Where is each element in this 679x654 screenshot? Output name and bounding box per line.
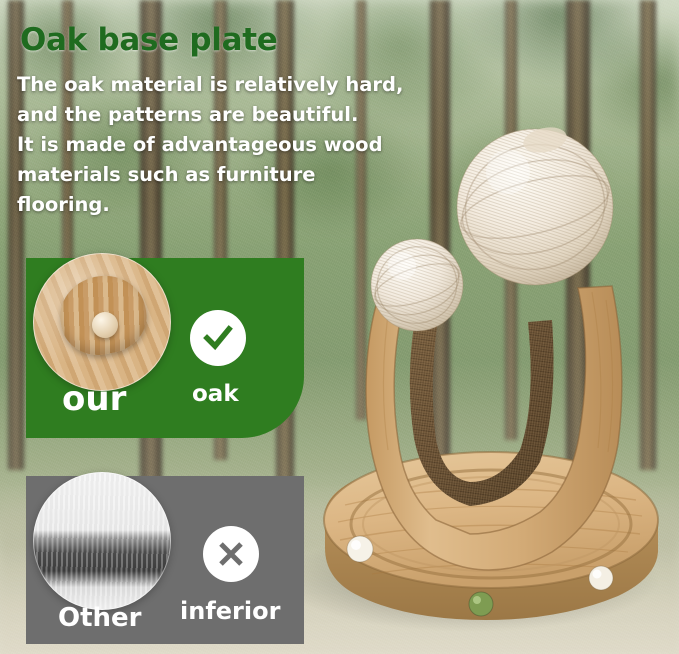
product-infographic: Oak base plate The oak material is relat… xyxy=(0,0,679,654)
label-other: Other xyxy=(58,603,142,633)
cross-icon xyxy=(203,526,259,582)
description-line: It is made of advantageous wood xyxy=(17,130,437,160)
description-line: materials such as furniture xyxy=(17,160,437,190)
check-icon xyxy=(190,310,246,366)
particle-board-texture xyxy=(34,473,170,609)
description-line: and the patterns are beautiful. xyxy=(17,100,437,130)
particle-board-swatch-image xyxy=(33,472,171,610)
label-our: our xyxy=(62,379,126,419)
description-text: The oak material is relatively hard, and… xyxy=(17,70,437,220)
label-inferior: inferior xyxy=(180,597,280,625)
oak-ball-detail xyxy=(92,312,118,338)
oak-swatch-image xyxy=(33,253,171,391)
description-line: flooring. xyxy=(17,190,437,220)
page-title: Oak base plate xyxy=(20,22,277,58)
description-line: The oak material is relatively hard, xyxy=(17,70,437,100)
label-oak: oak xyxy=(192,381,239,407)
